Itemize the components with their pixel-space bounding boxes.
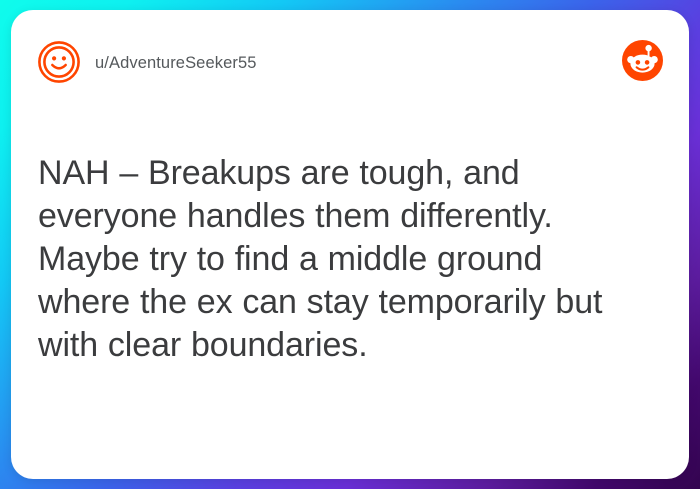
avatar[interactable]: [38, 41, 80, 83]
reddit-snoo-logo-icon: [622, 40, 663, 81]
smiley-face-avatar-icon: [38, 41, 80, 83]
post-header: u/AdventureSeeker55: [11, 10, 689, 94]
post-body-text: NAH – Breakups are tough, and everyone h…: [38, 152, 659, 367]
username-label: u/AdventureSeeker55: [95, 54, 257, 73]
reddit-post-card-screen: { "background": { "gradient_from": "#0FF…: [0, 0, 700, 489]
reddit-logo[interactable]: [622, 40, 663, 81]
post-card: u/AdventureSeeker55 NAH – Breakups are t…: [11, 10, 689, 479]
